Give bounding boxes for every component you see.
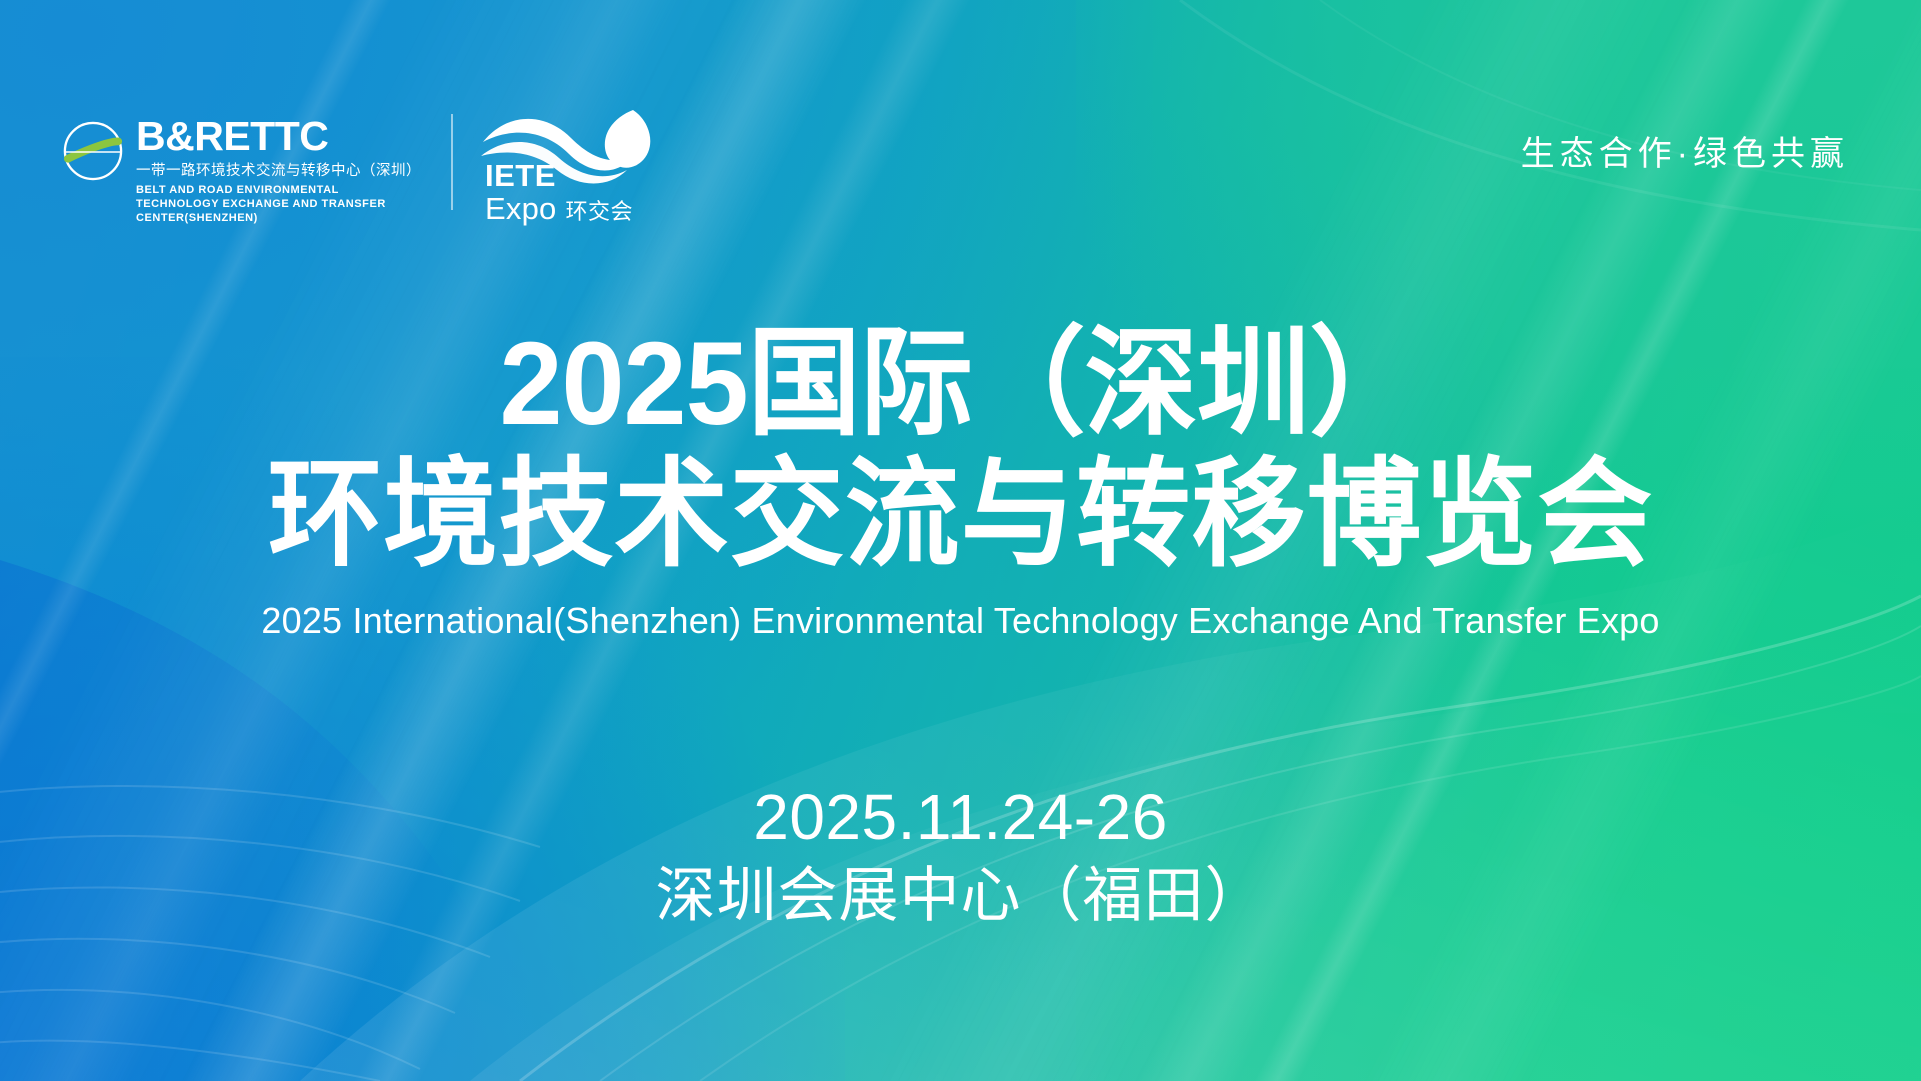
iete-expo-word: Expo bbox=[485, 193, 556, 224]
iete-acronym: IETE bbox=[485, 160, 633, 191]
iete-expo-logo[interactable]: IETE Expo 环交会 bbox=[481, 112, 681, 224]
title-block: 2025国际（深圳） 环境技术交流与转移博览会 2025 Internation… bbox=[0, 322, 1921, 642]
iete-subline: Expo 环交会 bbox=[485, 193, 633, 224]
event-date: 2025.11.24-26 bbox=[0, 782, 1921, 854]
brettc-text-block: B&RETTC 一带一路环境技术交流与转移中心（深圳） BELT AND ROA… bbox=[136, 116, 421, 225]
page-title-line-1: 2025国际（深圳） bbox=[38, 322, 1882, 447]
event-meta-block: 2025.11.24-26 深圳会展中心（福田） bbox=[0, 782, 1921, 932]
brettc-name-cn: 一带一路环境技术交流与转移中心（深圳） bbox=[136, 163, 421, 180]
brettc-acronym: B&RETTC bbox=[136, 116, 421, 157]
iete-wordmark: IETE Expo 环交会 bbox=[485, 160, 633, 224]
event-venue: 深圳会展中心（福田） bbox=[0, 860, 1921, 932]
event-slogan: 生态合作·绿色共赢 bbox=[1521, 126, 1849, 175]
logo-divider bbox=[451, 114, 453, 210]
logo-lockup: B&RETTC 一带一路环境技术交流与转移中心（深圳） BELT AND ROA… bbox=[62, 112, 681, 225]
brettc-name-en: BELT AND ROAD ENVIRONMENTAL TECHNOLOGY E… bbox=[136, 183, 386, 225]
page-title-line-2: 环境技术交流与转移博览会 bbox=[29, 453, 1892, 578]
event-poster: B&RETTC 一带一路环境技术交流与转移中心（深圳） BELT AND ROA… bbox=[0, 0, 1921, 1081]
globe-with-green-band-icon bbox=[62, 120, 124, 182]
brettc-logo[interactable]: B&RETTC 一带一路环境技术交流与转移中心（深圳） BELT AND ROA… bbox=[62, 112, 421, 225]
iete-name-cn: 环交会 bbox=[565, 201, 633, 223]
subtitle-english: 2025 International(Shenzhen) Environment… bbox=[0, 600, 1921, 642]
poster-content: B&RETTC 一带一路环境技术交流与转移中心（深圳） BELT AND ROA… bbox=[0, 0, 1921, 1081]
